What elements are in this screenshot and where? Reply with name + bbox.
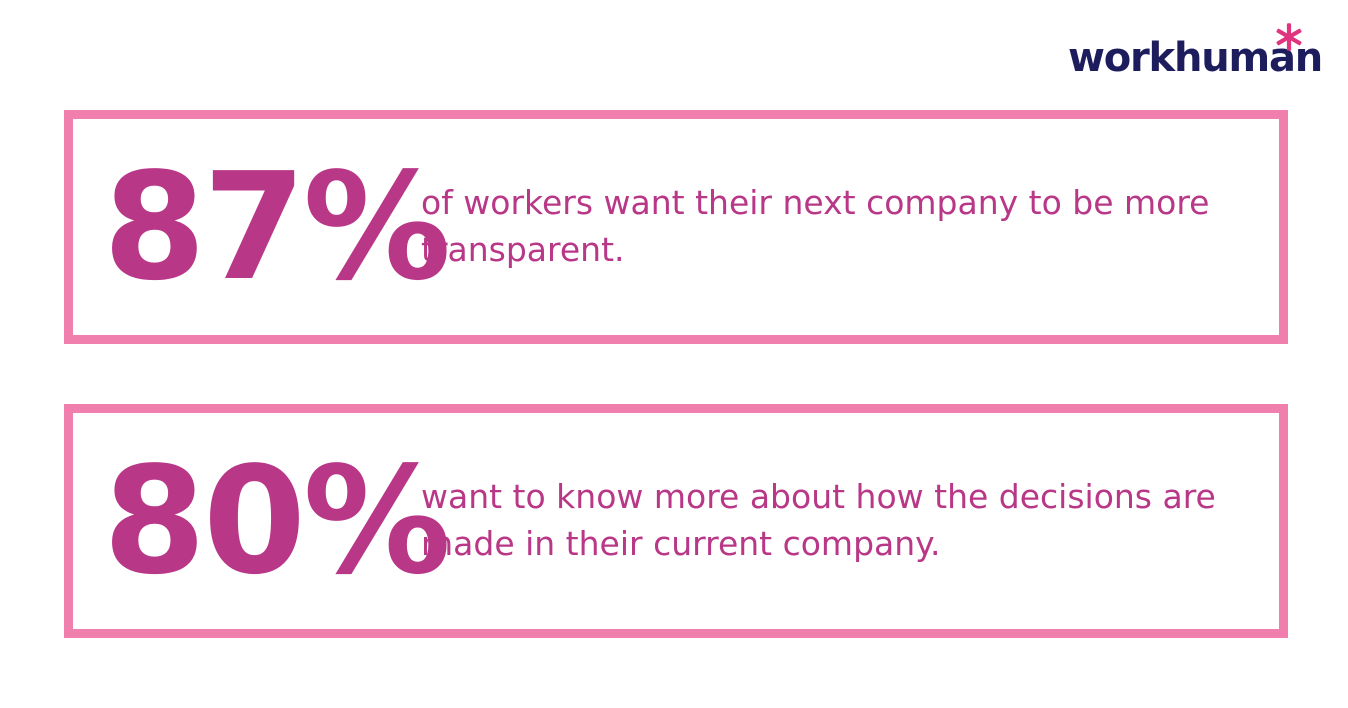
stat-description: of workers want their next company to be…: [421, 180, 1279, 274]
asterisk-icon: [1274, 22, 1304, 52]
stat-description: want to know more about how the decision…: [421, 474, 1279, 568]
workhuman-logo: workhuman: [1068, 22, 1308, 78]
stat-card: 80% want to know more about how the deci…: [64, 404, 1288, 638]
stat-figure: 87%: [73, 153, 421, 301]
stat-card: 87% of workers want their next company t…: [64, 110, 1288, 344]
stat-figure: 80%: [73, 447, 421, 595]
